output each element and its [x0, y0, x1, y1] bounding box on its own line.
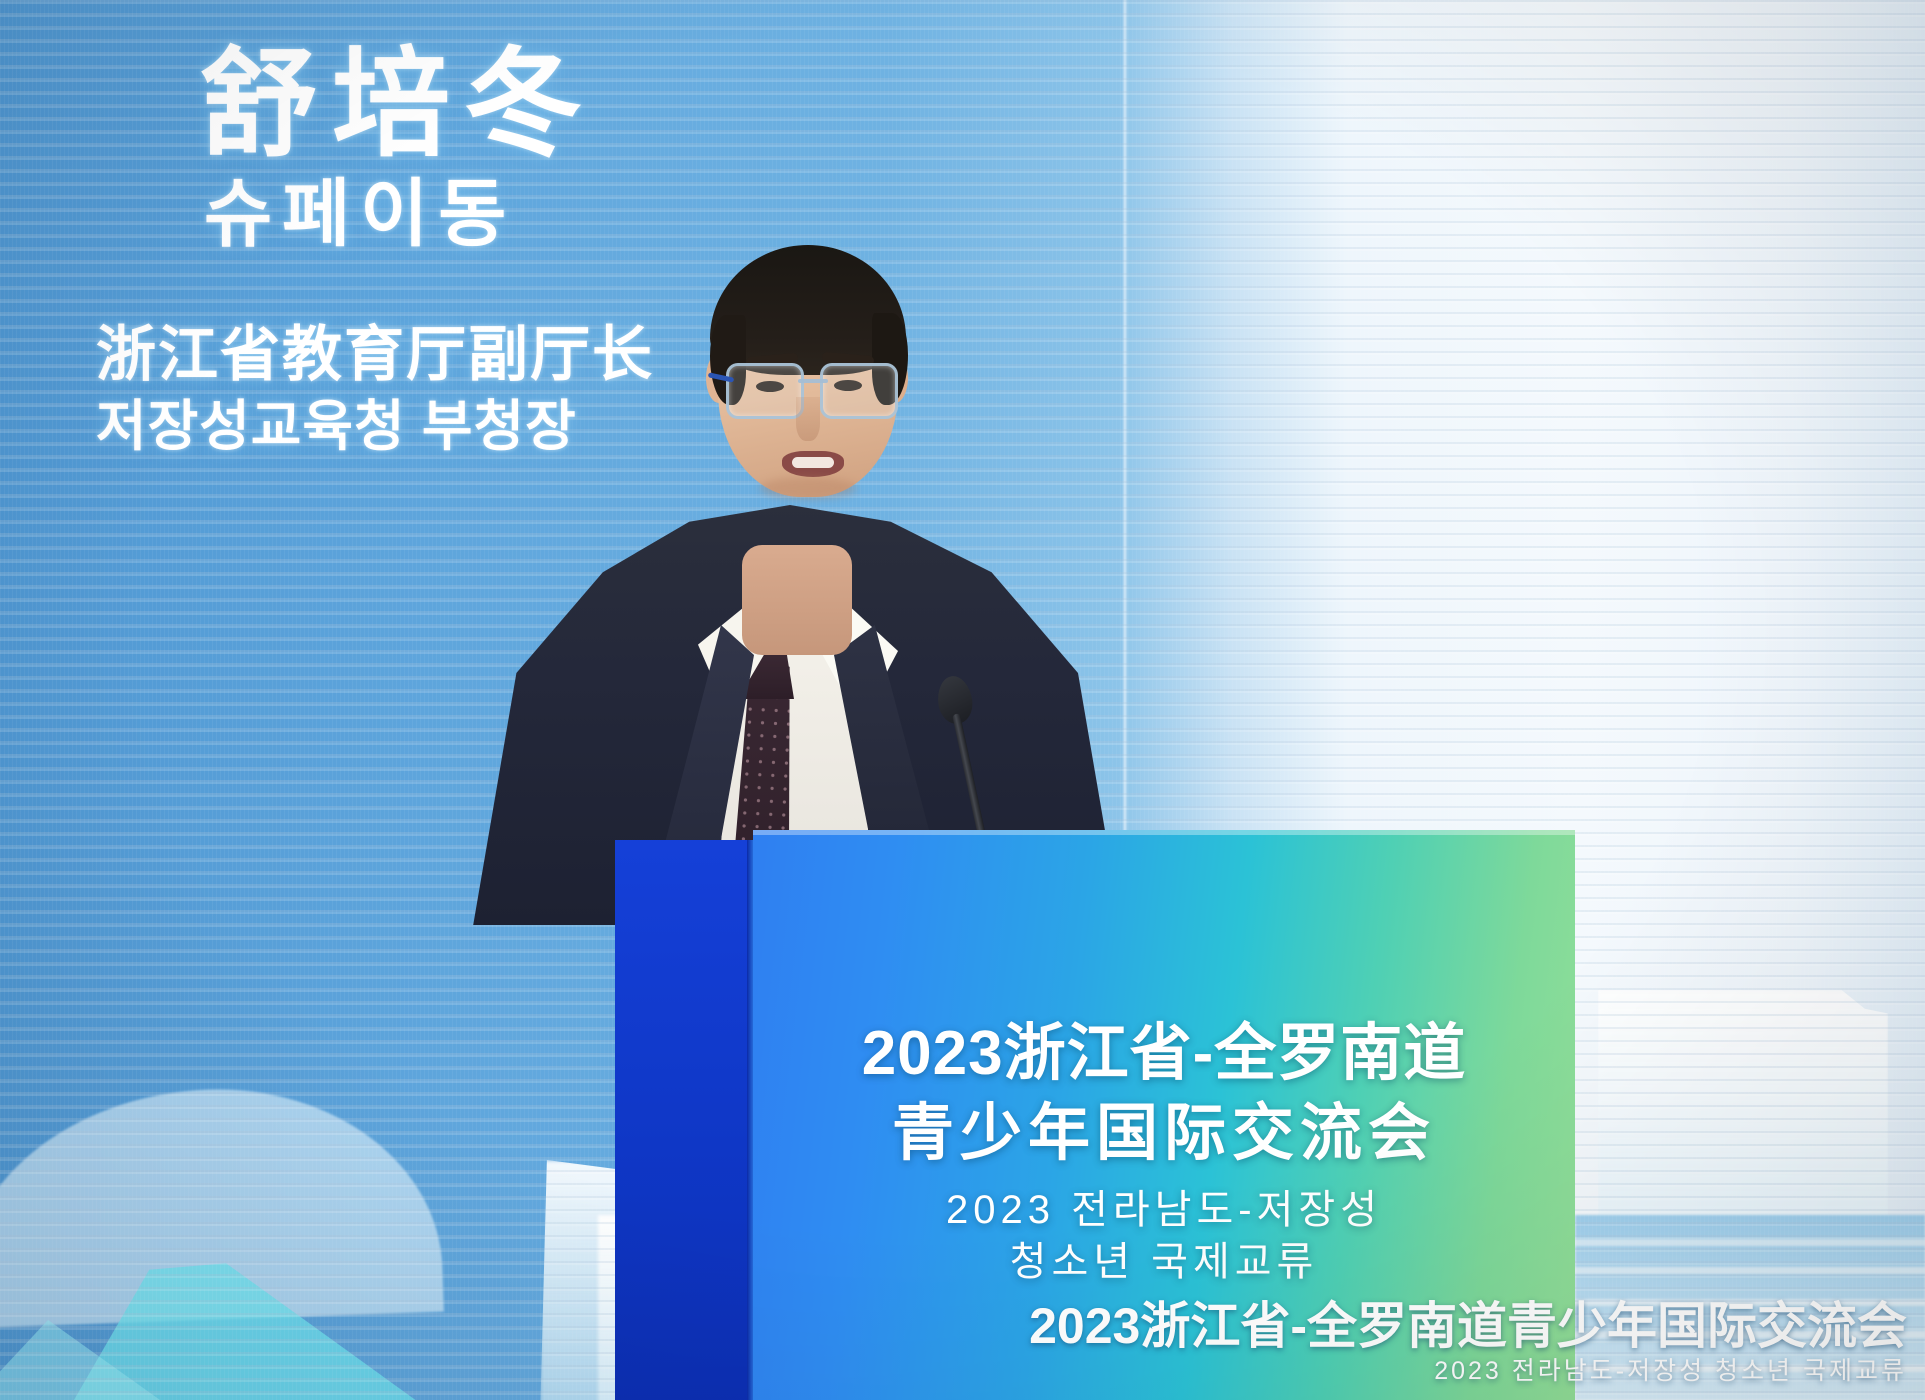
podium-side-panel	[615, 840, 753, 1400]
glasses-bridge	[798, 379, 828, 383]
stage-photo: 舒培冬 슈페이동 浙江省教育厅副厅长 저장성교육청 부청장	[0, 0, 1925, 1400]
nose	[796, 397, 820, 441]
podium-title-korean-line1: 2023 전라남도-저장성	[753, 1190, 1575, 1230]
neck	[742, 545, 852, 655]
chin-shadow	[760, 477, 856, 499]
podium-title-chinese-line1: 2023浙江省-全罗南道	[753, 1023, 1575, 1085]
podium-title-chinese-line2: 青少年国际交流会	[753, 1103, 1575, 1165]
podium-title-korean-line2: 청소년 국제교류	[753, 1242, 1575, 1282]
speaker-name-chinese: 舒培冬	[96, 46, 796, 164]
teeth	[792, 457, 834, 468]
lens-left	[726, 363, 804, 419]
watermark: 2023浙江省-全罗南道青少年国际交流会 2023 전라남도-저장성 청소년 국…	[1029, 1300, 1907, 1387]
watermark-korean: 2023 전라남도-저장성 청소년 국제교류	[1029, 1356, 1907, 1386]
lens-right	[820, 363, 898, 419]
speaker-person	[430, 205, 1150, 905]
watermark-chinese: 2023浙江省-全罗南道青少年国际交流会	[1029, 1300, 1907, 1353]
